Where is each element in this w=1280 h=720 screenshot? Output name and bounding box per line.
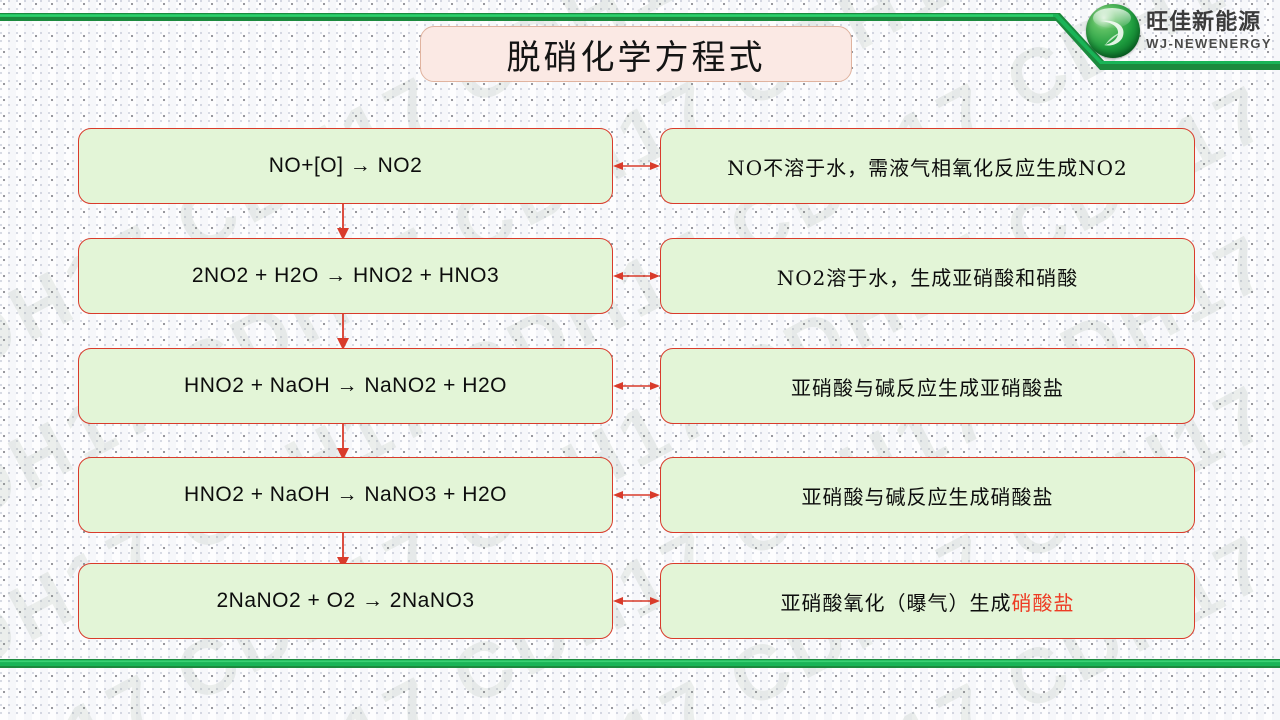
equation-text: HNO2 + NaOH → NaNO3 + H2O	[184, 483, 507, 507]
description-text: NO不溶于水，需液气相氧化反应生成NO2	[727, 152, 1128, 181]
description-text: 亚硝酸与碱反应生成亚硝酸盐	[791, 372, 1064, 401]
flow-row: NO+[O] → NO2 NO不溶于水，需液气相氧化反应生成NO2	[0, 128, 1280, 204]
equation-box-5[interactable]: 2NaNO2 + O2 → 2NaNO3	[78, 563, 613, 639]
description-box-5[interactable]: 亚硝酸氧化（曝气）生成硝酸盐	[660, 563, 1195, 639]
equation-text: NO+[O] → NO2	[269, 154, 423, 178]
flow-row: HNO2 + NaOH → NaNO3 + H2O 亚硝酸与碱反应生成硝酸盐	[0, 457, 1280, 533]
slide-canvas: CDH17 CDH17 CDH17 CDH17 CDH17 CDH17 CDH1…	[0, 0, 1280, 720]
description-text: 亚硝酸氧化（曝气）生成硝酸盐	[781, 587, 1075, 616]
description-box-2[interactable]: NO2溶于水，生成亚硝酸和硝酸	[660, 238, 1195, 314]
bidirectional-arrow-3	[613, 378, 660, 394]
bidirectional-arrow-5	[613, 593, 660, 609]
equation-text: 2NO2 + H2O → HNO2 + HNO3	[192, 264, 499, 288]
description-box-3[interactable]: 亚硝酸与碱反应生成亚硝酸盐	[660, 348, 1195, 424]
equation-box-2[interactable]: 2NO2 + H2O → HNO2 + HNO3	[78, 238, 613, 314]
description-text: NO2溶于水，生成亚硝酸和硝酸	[777, 262, 1079, 291]
bottom-green-banner	[0, 658, 1280, 670]
description-box-1[interactable]: NO不溶于水，需液气相氧化反应生成NO2	[660, 128, 1195, 204]
bidirectional-arrow-2	[613, 268, 660, 284]
flow-diagram: NO+[O] → NO2 NO不溶于水，需液气相氧化反应生成NO2 2NO2 +…	[0, 0, 1280, 720]
flow-row: HNO2 + NaOH → NaNO2 + H2O 亚硝酸与碱反应生成亚硝酸盐	[0, 348, 1280, 424]
description-text: 亚硝酸与碱反应生成硝酸盐	[802, 481, 1054, 510]
flow-row: 2NaNO2 + O2 → 2NaNO3 亚硝酸氧化（曝气）生成硝酸盐	[0, 563, 1280, 639]
equation-text: HNO2 + NaOH → NaNO2 + H2O	[184, 374, 507, 398]
equation-box-3[interactable]: HNO2 + NaOH → NaNO2 + H2O	[78, 348, 613, 424]
description-box-4[interactable]: 亚硝酸与碱反应生成硝酸盐	[660, 457, 1195, 533]
down-arrow-2	[331, 314, 355, 350]
down-arrow-1	[331, 204, 355, 240]
down-arrow-3	[331, 424, 355, 460]
equation-text: 2NaNO2 + O2 → 2NaNO3	[216, 589, 474, 613]
equation-box-4[interactable]: HNO2 + NaOH → NaNO3 + H2O	[78, 457, 613, 533]
flow-row: 2NO2 + H2O → HNO2 + HNO3 NO2溶于水，生成亚硝酸和硝酸	[0, 238, 1280, 314]
equation-box-1[interactable]: NO+[O] → NO2	[78, 128, 613, 204]
bidirectional-arrow-4	[613, 487, 660, 503]
bidirectional-arrow-1	[613, 158, 660, 174]
